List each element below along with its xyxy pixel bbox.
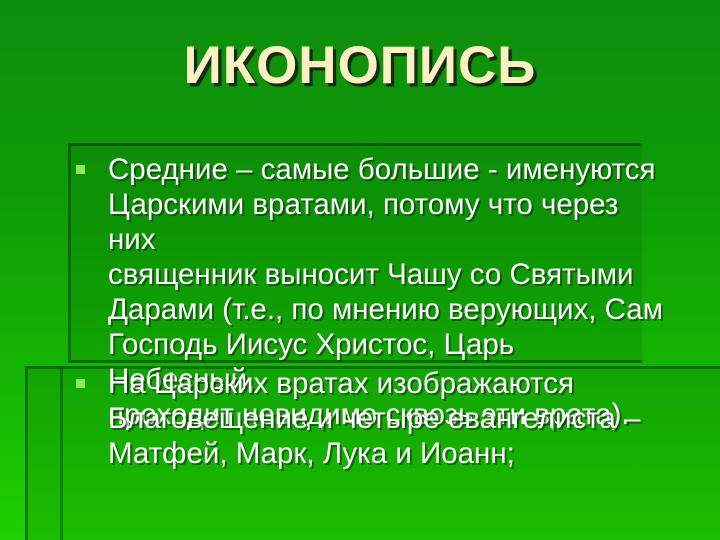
- bullet-list-secondary: На Царских вратах изображаются Благовеще…: [68, 366, 708, 471]
- page-title: ИКОНОПИСЬ: [184, 38, 537, 94]
- bullet-paragraph-text: На Царских вратах изображаются Благовеще…: [108, 366, 708, 471]
- presentation-slide: ИКОНОПИСЬ Средние – самые большие - имен…: [0, 0, 720, 540]
- placeholder-inner-divider: [60, 366, 63, 540]
- list-item: На Царских вратах изображаются Благовеще…: [68, 366, 708, 471]
- square-bullet-icon: [76, 379, 85, 388]
- slide-title-area: ИКОНОПИСЬ: [0, 38, 720, 94]
- square-bullet-icon: [76, 165, 85, 174]
